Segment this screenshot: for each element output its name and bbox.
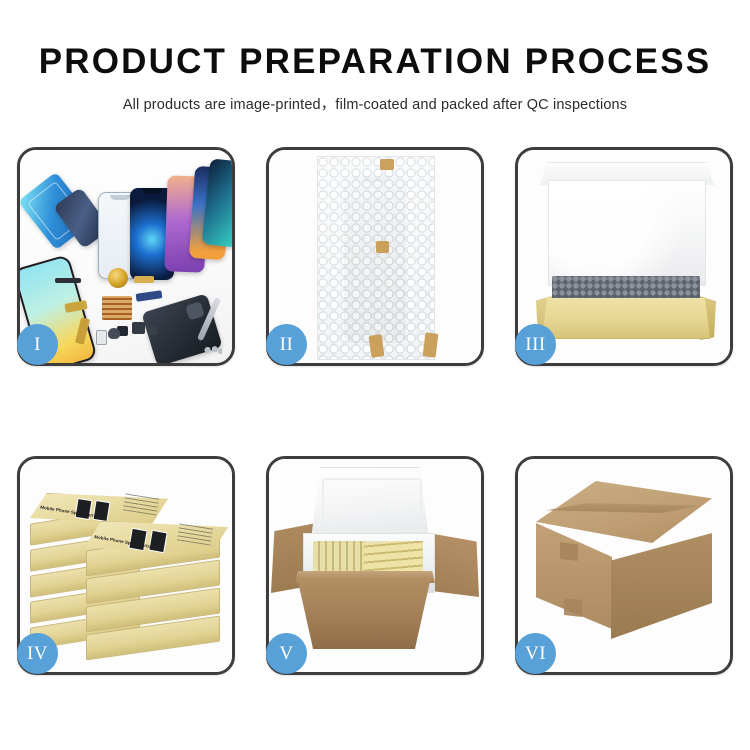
bubble-wrap-texture [318, 157, 434, 359]
step-panel-v: V [266, 456, 484, 675]
kraft-box-body-icon [542, 298, 710, 339]
step-badge-ii: II [266, 324, 307, 365]
step-badge-iv: IV [17, 633, 58, 674]
step-panel-iv: Mobile Phone Spare Parts Mobile Phone Sp… [17, 456, 235, 675]
white-foam-sheet-icon [548, 180, 706, 286]
tape-piece-2-icon [376, 241, 389, 253]
chip-component-2-icon [132, 322, 145, 334]
box-stack: Mobile Phone Spare Parts Mobile Phone Sp… [28, 479, 228, 659]
antenna-strip-icon [55, 278, 81, 283]
page-title: PRODUCT PREPARATION PROCESS [0, 44, 750, 79]
step-badge-i: I [17, 324, 58, 365]
carton-right-face-icon [611, 533, 712, 639]
step-panel-vi: VI [515, 456, 733, 675]
carton-tab-1-icon [560, 541, 578, 561]
tape-piece-4-icon [423, 332, 439, 357]
carton-tab-2-icon [564, 597, 582, 617]
step-panel-ii: II [266, 147, 484, 366]
lid-phone-image-2-icon [93, 500, 111, 522]
step-badge-iii: III [515, 324, 556, 365]
screws-icon [204, 346, 222, 354]
carton-front-icon [297, 577, 431, 649]
eps-foam-lid-icon [311, 467, 429, 539]
camera-module-icon [108, 328, 120, 339]
chip-component-3-icon [148, 326, 157, 335]
flex-cable-d-icon [134, 276, 154, 283]
copper-shield-grid-icon [102, 296, 132, 320]
bubble-bag [317, 156, 435, 360]
flex-cable-c-icon [136, 290, 163, 302]
step-badge-v: V [266, 633, 307, 674]
step-panel-i: I [17, 147, 235, 366]
header: PRODUCT PREPARATION PROCESS All products… [0, 0, 750, 114]
speaker-coil-icon [108, 268, 128, 288]
tape-piece-1-icon [380, 159, 394, 170]
page-subtitle: All products are image-printed，film-coat… [0, 93, 750, 114]
step-panel-iii: III [515, 147, 733, 366]
product-preparation-infographic: PRODUCT PREPARATION PROCESS All products… [0, 0, 750, 750]
process-steps-grid: I II [17, 147, 733, 675]
step-badge-vi: VI [515, 633, 556, 674]
sim-tray-icon [96, 330, 107, 345]
